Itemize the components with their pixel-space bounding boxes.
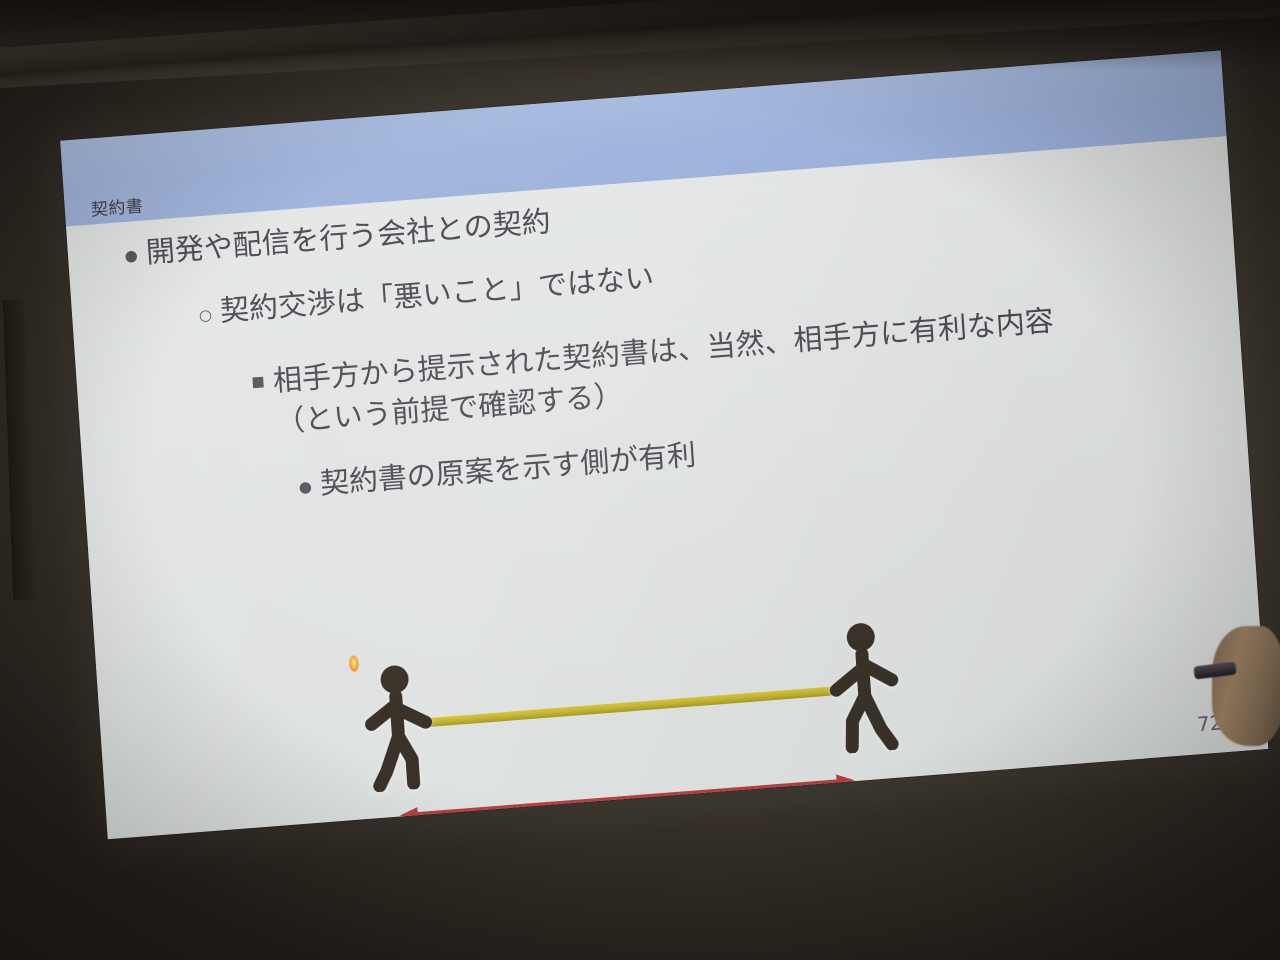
filled-square-bullet-icon: ■ [242,361,275,403]
wall-corner-edge [3,300,35,601]
room-background: 契約書 ● 開発や配信を行う会社との契約 ○ 契約交渉は「悪いこと」ではない ■… [0,0,1280,960]
page-number: 72 [1196,710,1223,736]
list-item-text: 契約書の原案を示す側が有利 [319,437,697,504]
slide-body: ● 開発や配信を行う会社との契約 ○ 契約交渉は「悪いこと」ではない ■ 相手方… [66,136,1268,839]
page-title: 契約書 [90,192,144,225]
projection-screen: 契約書 ● 開発や配信を行う会社との契約 ○ 契約交渉は「悪いこと」ではない ■… [60,50,1268,839]
rope-graphic [423,687,832,728]
presentation-slide: 契約書 ● 開発や配信を行う会社との契約 ○ 契約交渉は「悪いこと」ではない ■… [60,50,1268,839]
filled-circle-bullet-icon: ● [115,235,148,277]
stick-figure-left-icon [354,658,454,793]
double-headed-arrow-icon [397,769,857,827]
hollow-circle-bullet-icon: ○ [189,293,222,337]
list-item-text: 契約交渉は「悪いこと」ではない [219,259,655,330]
small-filled-circle-bullet-icon: ● [289,466,322,508]
tug-of-war-illustration [341,608,974,839]
stick-figure-right-icon [810,617,911,756]
